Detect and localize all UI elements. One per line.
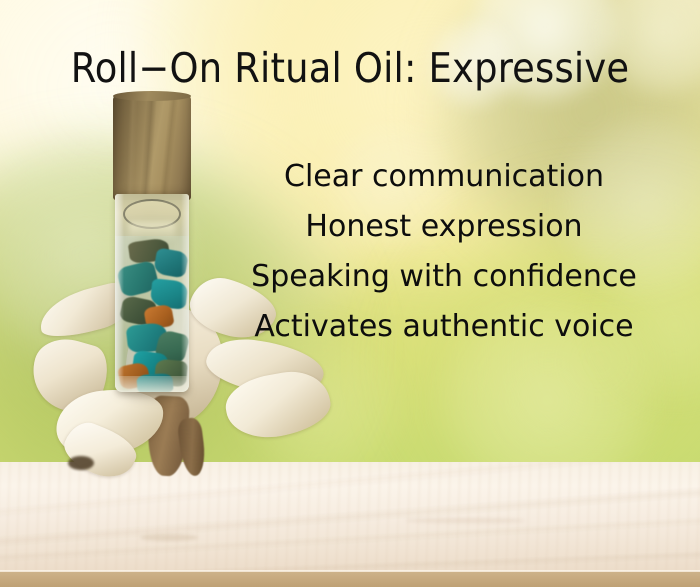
benefit-item: Honest expression [244, 202, 644, 252]
benefit-item: Clear communication [244, 152, 644, 202]
benefit-list: Clear communication Honest expression Sp… [244, 152, 644, 352]
glass-highlight-left [115, 194, 124, 392]
wood-knot [405, 518, 525, 523]
wood-knot [140, 534, 198, 541]
roller-bottle [110, 94, 194, 394]
benefit-item: Activates authentic voice [244, 302, 644, 352]
glass-vial [115, 194, 189, 392]
product-graphic: Roll−On Ritual Oil: Expressive Clear com… [0, 0, 700, 587]
wood-table-surface [0, 462, 700, 572]
glass-highlight-right [181, 194, 189, 392]
coral-tip-shadow [68, 456, 94, 470]
wooden-cap [113, 94, 191, 200]
table-front-edge [0, 572, 700, 587]
cap-top-ellipse [113, 91, 191, 101]
glass-bottom [115, 376, 189, 392]
wood-grain [0, 462, 700, 572]
product-title: Roll−On Ritual Oil: Expressive [0, 44, 700, 92]
benefit-item: Speaking with confidence [244, 252, 644, 302]
cap-wood-grain [113, 94, 191, 200]
